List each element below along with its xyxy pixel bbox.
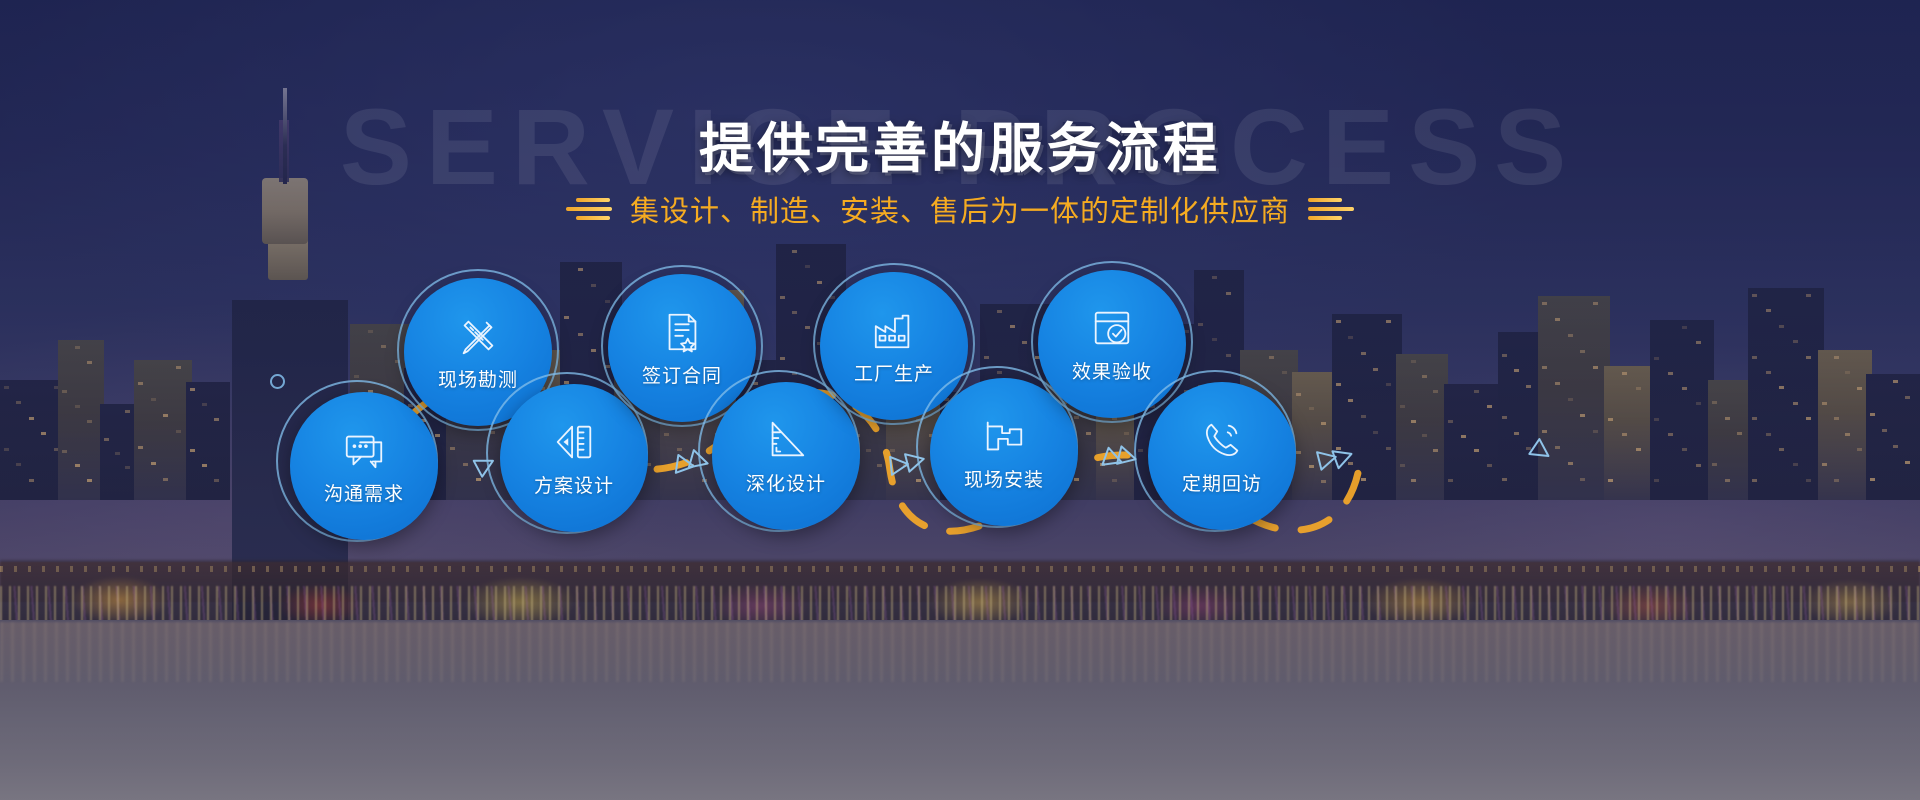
- step-label-7: 现场安装: [964, 465, 1044, 492]
- step-label-5: 深化设计: [746, 469, 826, 496]
- chat-bubble-icon: [341, 427, 387, 473]
- step-disc-9[interactable]: 定期回访: [1148, 382, 1296, 530]
- factory-icon: [871, 307, 917, 353]
- subtitle-row: 集设计、制造、安装、售后为一体的定制化供应商: [0, 188, 1920, 230]
- banner-stage: SERVICE PROCESS 提供完善的服务流程 集设计、制造、安装、售后为一…: [0, 0, 1920, 800]
- subtitle-right-deco-icon: [1308, 198, 1354, 220]
- drill-tool-icon: [981, 413, 1027, 459]
- step-label-4: 签订合同: [642, 361, 722, 388]
- phone-call-icon: [1199, 417, 1245, 463]
- ruler-pencil-icon: [455, 313, 501, 359]
- page-subtitle: 集设计、制造、安装、售后为一体的定制化供应商: [630, 188, 1290, 230]
- step-label-9: 定期回访: [1182, 469, 1262, 496]
- step-label-1: 沟通需求: [324, 479, 404, 506]
- set-square-icon: [763, 417, 809, 463]
- scale-ruler-icon: [551, 419, 597, 465]
- step-label-6: 工厂生产: [854, 359, 934, 386]
- flow-start-dot: [270, 374, 285, 389]
- process-step-9[interactable]: 定期回访: [1148, 382, 1296, 530]
- contract-icon: [659, 309, 705, 355]
- step-label-3: 方案设计: [534, 471, 614, 498]
- step-label-8: 效果验收: [1072, 357, 1152, 384]
- page-title: 提供完善的服务流程: [0, 104, 1920, 183]
- window-check-icon: [1089, 305, 1135, 351]
- subtitle-left-deco-icon: [566, 198, 612, 220]
